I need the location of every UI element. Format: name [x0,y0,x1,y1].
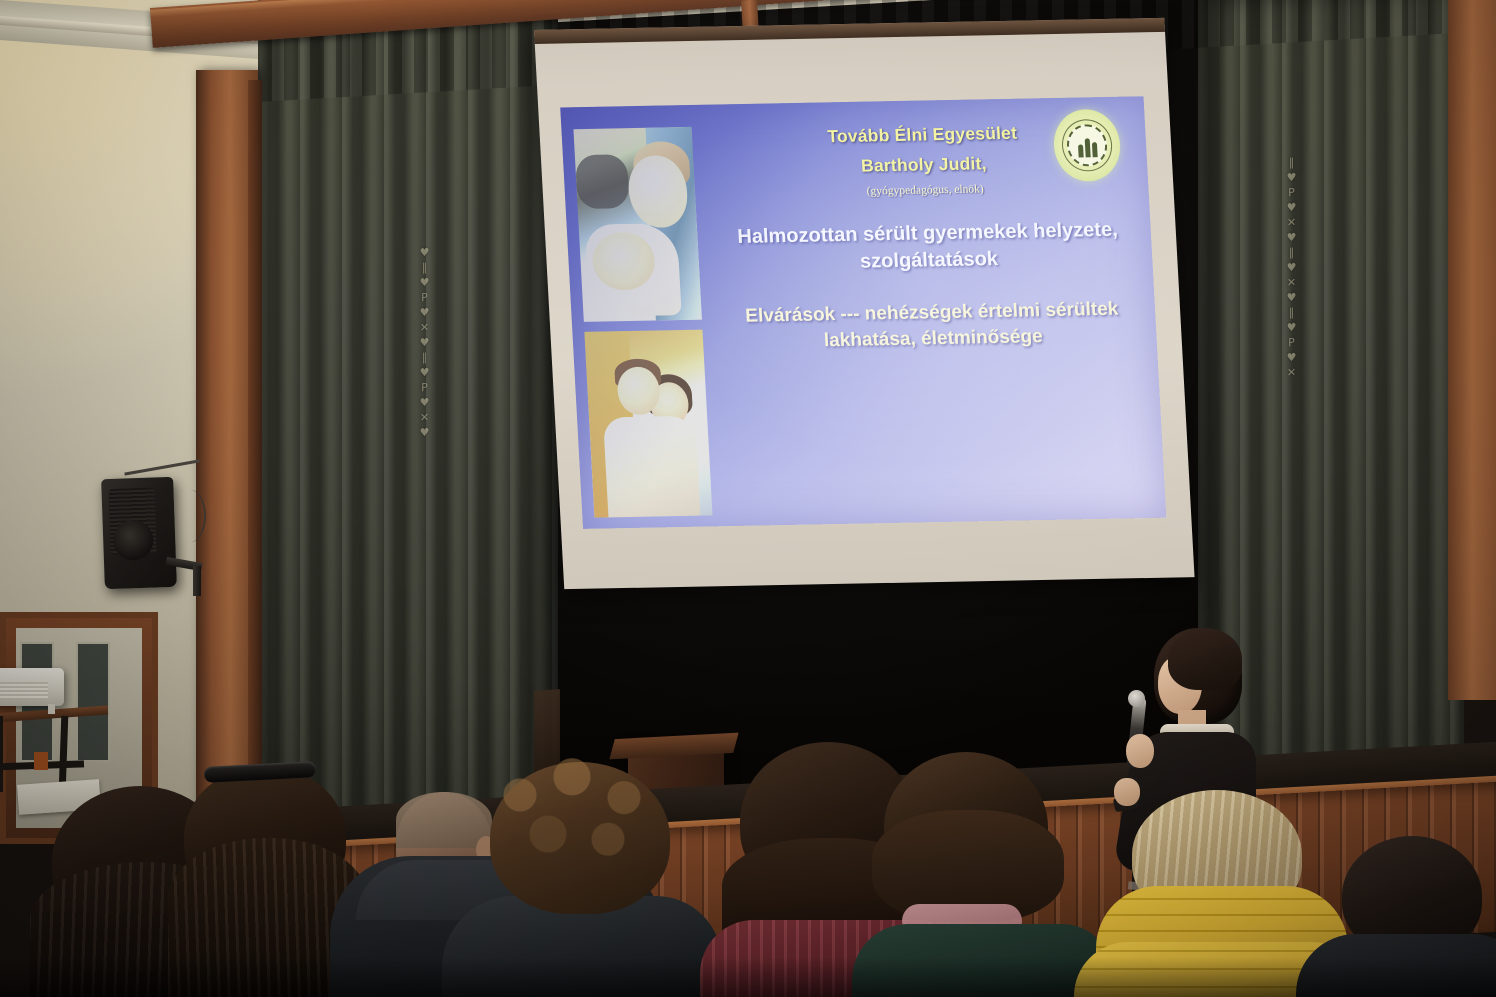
pa-speaker-mount-bracket [193,566,201,596]
audience-member-9 [1318,836,1496,997]
pa-speaker-cable [176,490,206,542]
audience-member-7 [862,752,1092,997]
proscenium-left-inner [248,80,262,860]
presentation-room-scene: ♥ ‖ ♥ P ♥ ✕ ♥ ‖ ♥ P ♥ ✕ ♥ ‖ ♥ P ♥ ✕ ♥ ‖ … [0,0,1496,997]
projected-slide: Y Tovább Élni Egyesület Bartholy Judit, … [560,96,1166,529]
pa-speaker [101,477,177,589]
slide-text-block: Tovább Élni Egyesület Bartholy Judit, (g… [712,120,1145,356]
audience-member-5 [470,762,690,997]
table-leg-left [0,716,3,792]
projection-screen: Y Tovább Élni Egyesület Bartholy Judit, … [534,18,1195,589]
table-clamp [34,752,48,770]
projector [0,668,64,706]
curtain-folk-motif-right: ‖ ♥ P ♥ ✕ ♥ ‖ ♥ ✕ ♥ ‖ ♥ P ♥ ✕ [1283,155,1300,556]
slide-topic-two: Elvárások --- nehézségek értelmi sérülte… [721,296,1144,356]
slide-topic-one: Halmozottan sérült gyermekek helyzete, s… [717,216,1140,278]
projector-foot [48,704,55,714]
presenter-hair-front [1168,628,1242,690]
slide-photo-bottom: Y [584,330,712,518]
curtain-folk-motif-left: ♥ ‖ ♥ P ♥ ✕ ♥ ‖ ♥ P ♥ ✕ ♥ [416,245,433,536]
slide-presenter-name: Bartholy Judit, [713,150,1134,179]
presenter-hand-holding-mic [1126,734,1154,768]
slide-presenter-role: (gyógypedagógus, elnök) [715,180,1136,200]
proscenium-right-post [1448,0,1496,700]
microphone-head-icon [1128,690,1145,707]
slide-photo-top [573,127,701,322]
slide-organization-name: Tovább Élni Egyesület [712,120,1133,149]
